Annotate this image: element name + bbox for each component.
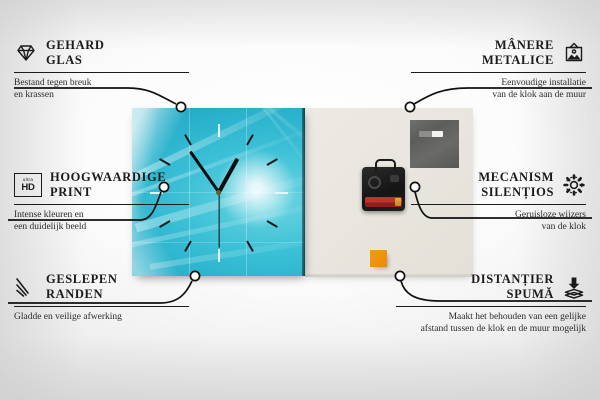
wall-mount-frame-icon <box>562 41 586 65</box>
callout-head: MECANISM SILENȚIOS <box>411 170 586 200</box>
callout-title: GESLEPEN RANDEN <box>46 272 118 302</box>
callout-subtitle: Eenvoudige installatie van de klok aan d… <box>411 77 586 101</box>
callout-title: MECANISM SILENȚIOS <box>478 170 554 200</box>
clock-tick <box>218 249 220 262</box>
ultra-hd-icon: ultra HD <box>14 173 42 197</box>
infographic-canvas: GEHARD GLAS Bestand tegen breuk en krass… <box>0 0 600 400</box>
foam-spacer <box>370 250 387 267</box>
clock-center-cap <box>216 190 221 195</box>
callout-rule <box>14 72 189 73</box>
callout-subtitle: Bestand tegen breuk en krassen <box>14 77 189 101</box>
clock-tick <box>266 220 277 228</box>
clock-mechanism <box>362 167 405 211</box>
callout-head: DISTANȚIER SPUMĂ <box>396 272 586 302</box>
callout-head: GEHARD GLAS <box>14 38 189 68</box>
battery <box>365 197 402 207</box>
callout-mecanism-silentios[interactable]: MECANISM SILENȚIOS Geruisloze wijzers va… <box>411 170 586 233</box>
clock-tick <box>275 192 288 194</box>
callout-hoogwaardige-print[interactable]: ultra HD HOOGWAARDIGE PRINT Intense kleu… <box>14 170 189 233</box>
callout-rule <box>411 72 586 73</box>
callout-subtitle: Intense kleuren en een duidelijk beeld <box>14 209 189 233</box>
callout-rule <box>396 306 586 307</box>
callout-subtitle: Gladde en veilige afwerking <box>14 311 189 323</box>
callout-subtitle: Geruisloze wijzers van de klok <box>411 209 586 233</box>
callout-distantier-spuma[interactable]: DISTANȚIER SPUMĂ Maakt het behouden van … <box>396 272 586 335</box>
hanger-slot <box>419 131 443 137</box>
mechanism-hanger-loop <box>375 159 396 171</box>
callout-head: MÂNERE METALICE <box>411 38 586 68</box>
mechanism-knob <box>390 175 399 182</box>
callout-head: GESLEPEN RANDEN <box>14 272 189 302</box>
ground-edges-icon <box>14 275 38 299</box>
callout-head: ultra HD HOOGWAARDIGE PRINT <box>14 170 189 200</box>
callout-title: HOOGWAARDIGE PRINT <box>50 170 166 200</box>
gear-icon <box>562 173 586 197</box>
second-hand <box>218 190 219 248</box>
callout-rule <box>14 204 189 205</box>
callout-title: GEHARD GLAS <box>46 38 104 68</box>
diamond-icon <box>14 41 38 65</box>
clock-tick <box>218 124 220 137</box>
callout-title: MÂNERE METALICE <box>482 38 554 68</box>
callout-rule <box>411 204 586 205</box>
glass-edge <box>302 108 305 276</box>
callout-rule <box>14 306 189 307</box>
callout-gehard-glas[interactable]: GEHARD GLAS Bestand tegen breuk en krass… <box>14 38 189 101</box>
clock-tick <box>266 158 277 166</box>
callout-title: DISTANȚIER SPUMĂ <box>471 272 554 302</box>
foam-spacer-icon <box>562 275 586 299</box>
callout-geslepen-randen[interactable]: GESLEPEN RANDEN Gladde en veilige afwerk… <box>14 272 189 323</box>
mechanism-dial <box>368 176 381 189</box>
callout-manere-metalice[interactable]: MÂNERE METALICE Eenvoudige installatie v… <box>411 38 586 101</box>
metal-hanger-plate <box>410 120 459 168</box>
callout-subtitle: Maakt het behouden van een gelijke afsta… <box>396 311 586 335</box>
clock-tick <box>184 134 192 145</box>
